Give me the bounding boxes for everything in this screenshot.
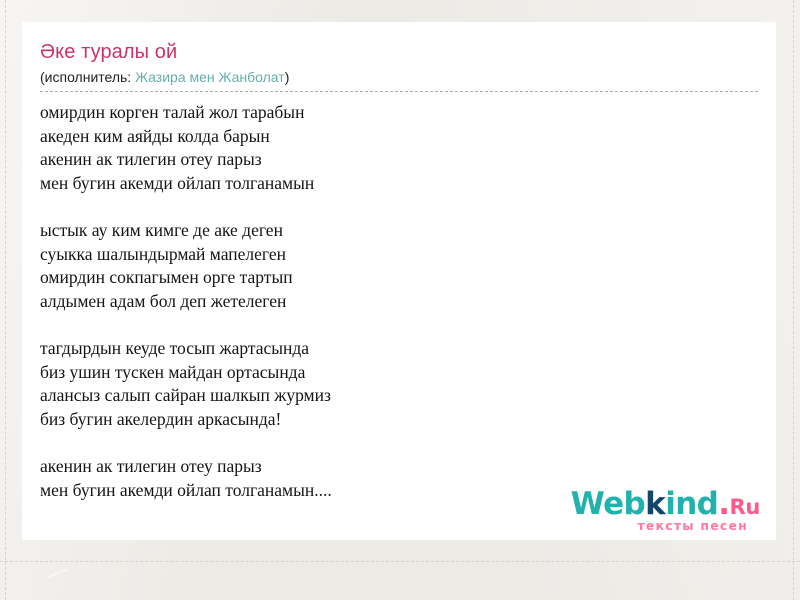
- logo-part-ind: ind: [665, 486, 718, 522]
- artist-link[interactable]: Жазира мен Жанболат: [135, 69, 285, 85]
- logo-part-web: Web: [571, 486, 646, 522]
- lyric-line: алдымен адам бол деп жетелеген: [40, 290, 758, 314]
- paper-scratch: [47, 569, 68, 578]
- artist-prefix-label: (исполнитель:: [40, 69, 131, 85]
- lyric-line: суыкка шалындырмай мапелеген: [40, 243, 758, 267]
- artist-suffix-label: ): [285, 69, 290, 85]
- lyric-line: омирдин корген талай жол тарабын: [40, 101, 758, 125]
- page-backdrop: Әке туралы ой (исполнитель: Жазира мен Ж…: [0, 0, 800, 600]
- lyric-line: акенин ак тилегин отеу парыз: [40, 148, 758, 172]
- guide-line-right: [793, 0, 794, 600]
- artist-line: (исполнитель: Жазира мен Жанболат): [40, 68, 758, 86]
- lyrics-body: омирдин корген талай жол тарабынакеден к…: [22, 92, 776, 502]
- lyric-line: акенин ак тилегин отеу парыз: [40, 455, 758, 479]
- lyric-line: биз бугин акелердин аркасында!: [40, 408, 758, 432]
- song-header: Әке туралы ой (исполнитель: Жазира мен Ж…: [22, 22, 776, 86]
- lyric-line: тагдырдын кеуде тосып жартасында: [40, 337, 758, 361]
- site-logo[interactable]: Webkind.Ru тексты песен: [571, 489, 760, 532]
- header-divider: [40, 91, 758, 92]
- lyric-blank-line: [40, 314, 758, 338]
- lyric-blank-line: [40, 432, 758, 456]
- lyric-line: ыстык ау ким кимге де аке деген: [40, 219, 758, 243]
- guide-line-bottom: [0, 561, 800, 562]
- lyric-line: мен бугин акемди ойлап толганамын: [40, 172, 758, 196]
- logo-part-k: k: [645, 486, 665, 522]
- logo-part-dot: .: [718, 486, 729, 522]
- lyric-blank-line: [40, 196, 758, 220]
- page-title: Әке туралы ой: [40, 40, 758, 65]
- lyric-line: алансыз салып сайран шалкып журмиз: [40, 384, 758, 408]
- guide-line-left: [5, 0, 6, 600]
- lyric-line: биз ушин тускен майдан ортасында: [40, 361, 758, 385]
- song-sheet: Әке туралы ой (исполнитель: Жазира мен Ж…: [22, 22, 776, 540]
- lyric-line: акеден ким аяйды колда барын: [40, 125, 758, 149]
- logo-part-ru: Ru: [729, 495, 760, 519]
- lyric-line: омирдин сокпагымен орге тартып: [40, 266, 758, 290]
